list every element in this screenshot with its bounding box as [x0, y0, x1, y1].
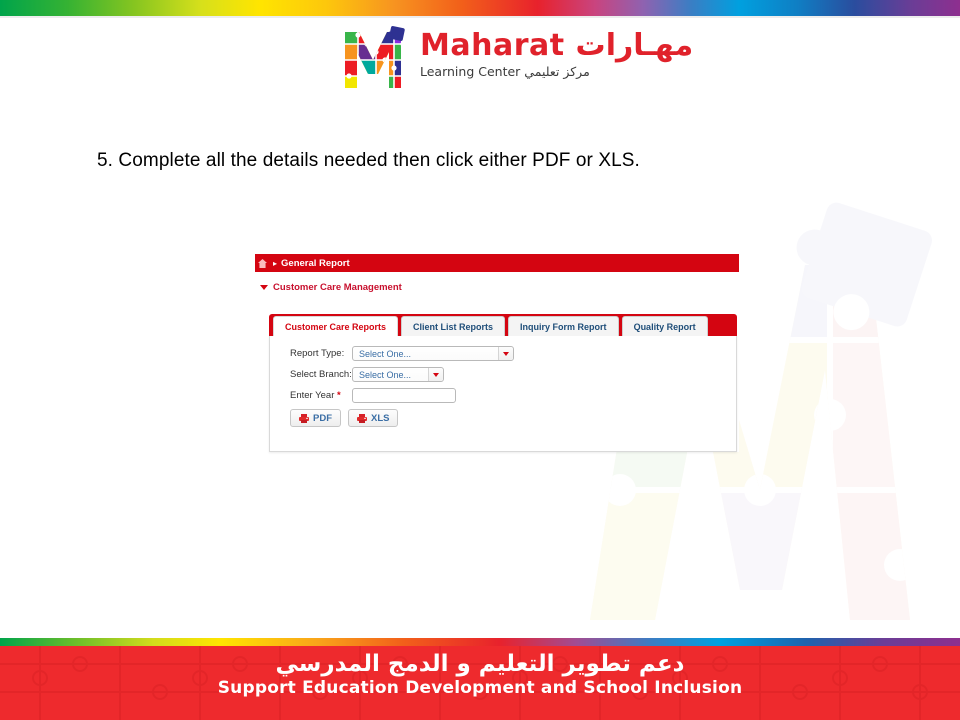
- tab-client-list-reports[interactable]: Client List Reports: [401, 316, 505, 336]
- app-screenshot-panel: ▸ General Report Customer Care Managemen…: [255, 254, 739, 452]
- maharat-puzzle-m-logo-icon: [340, 26, 410, 92]
- home-icon[interactable]: [258, 259, 267, 268]
- select-branch-caret-down-icon[interactable]: [428, 368, 443, 381]
- brand-name-en: Maharat: [420, 28, 565, 63]
- footer-rainbow-bar: [0, 638, 960, 646]
- export-button-row: PDF XLS: [290, 409, 736, 427]
- enter-year-input[interactable]: [352, 388, 456, 403]
- printer-icon: [299, 414, 309, 423]
- tab-customer-care-reports[interactable]: Customer Care Reports: [273, 316, 398, 336]
- select-branch-select[interactable]: Select One...: [352, 367, 444, 382]
- tab-content: Report Type: Select One... Select Branch…: [269, 336, 737, 452]
- select-branch-value: Select One...: [353, 370, 428, 380]
- footer-text-english: Support Education Development and School…: [0, 678, 960, 698]
- report-type-value: Select One...: [353, 349, 498, 359]
- footer-banner: دعم تطوير التعليم و الدمج المدرسي Suppor…: [0, 646, 960, 720]
- brand-tagline-ar: مركز تعليمي: [524, 64, 589, 79]
- tab-quality-report[interactable]: Quality Report: [622, 316, 708, 336]
- report-type-select[interactable]: Select One...: [352, 346, 514, 361]
- report-type-row: Report Type: Select One...: [290, 346, 736, 361]
- report-type-label: Report Type:: [290, 348, 352, 359]
- xls-button[interactable]: XLS: [348, 409, 398, 427]
- xls-button-label: XLS: [371, 413, 389, 424]
- page-footer: دعم تطوير التعليم و الدمج المدرسي Suppor…: [0, 638, 960, 720]
- breadcrumb-separator-icon: ▸: [273, 259, 277, 268]
- tab-inquiry-form-report[interactable]: Inquiry Form Report: [508, 316, 619, 336]
- brand-tagline-en: Learning Center: [420, 64, 520, 79]
- top-rainbow-bar: [0, 0, 960, 16]
- pdf-button[interactable]: PDF: [290, 409, 341, 427]
- select-branch-row: Select Branch: Select One...: [290, 367, 736, 382]
- section-header[interactable]: Customer Care Management: [255, 272, 739, 293]
- pdf-button-label: PDF: [313, 413, 332, 424]
- instruction-text: 5. Complete all the details needed then …: [97, 150, 897, 172]
- section-title: Customer Care Management: [273, 282, 402, 293]
- report-type-caret-down-icon[interactable]: [498, 347, 513, 360]
- tab-strip: Customer Care Reports Client List Report…: [269, 314, 737, 336]
- tab-panel: Customer Care Reports Client List Report…: [269, 314, 737, 452]
- enter-year-row: Enter Year *: [290, 388, 736, 403]
- select-branch-label: Select Branch:: [290, 369, 352, 380]
- brand-logo: Maharat مهـارات Learning Center مركز تعل…: [340, 26, 630, 98]
- breadcrumb: ▸ General Report: [255, 254, 739, 272]
- top-bar-shadow: [0, 16, 960, 18]
- required-asterisk: *: [337, 390, 341, 401]
- triangle-down-icon[interactable]: [260, 285, 268, 290]
- printer-icon: [357, 414, 367, 423]
- breadcrumb-general-report[interactable]: General Report: [281, 258, 350, 269]
- enter-year-label: Enter Year *: [290, 390, 352, 401]
- footer-text-arabic: دعم تطوير التعليم و الدمج المدرسي: [0, 650, 960, 679]
- brand-name-ar: مهـارات: [576, 28, 694, 63]
